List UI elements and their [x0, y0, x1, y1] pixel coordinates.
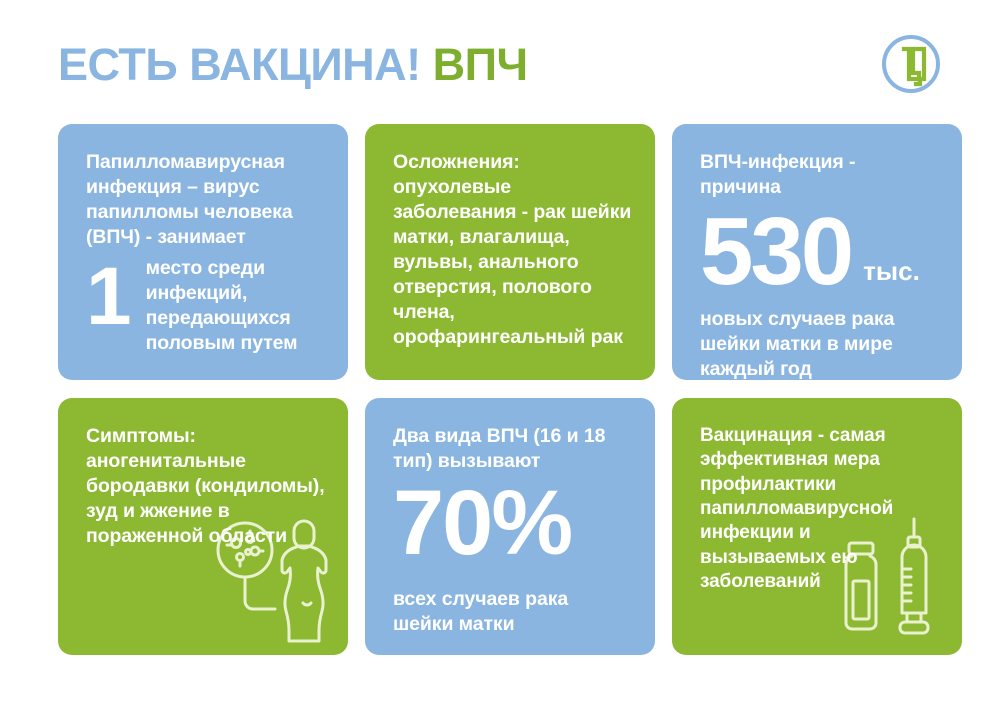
card-types-stat: 70% [393, 480, 633, 567]
title-main: ЕСТЬ ВАКЦИНА! [58, 39, 421, 90]
card-complications-body: Осложнения: опухолевые заболевания - рак… [393, 150, 633, 350]
card-vaccination: Вакцинация - самая эффективная мера проф… [672, 398, 962, 655]
card-definition-body: Папилломавирусная инфекция – вирус папил… [86, 150, 326, 356]
title-accent: ВПЧ [433, 39, 528, 90]
card-symptoms-body: Симптомы: аногенитальные бородавки (конд… [86, 424, 326, 549]
card-cases-lead: ВПЧ-инфекция - причина [700, 150, 940, 200]
page-title: ЕСТЬ ВАКЦИНА! ВПЧ [58, 42, 528, 87]
card-complications-lead: Осложнения: опухолевые заболевания - рак… [393, 150, 633, 350]
card-types-stat-value: 70% [393, 480, 571, 567]
card-symptoms: Симптомы: аногенитальные бородавки (конд… [58, 398, 348, 655]
card-cases: ВПЧ-инфекция - причина 530 тыс. новых сл… [672, 124, 962, 380]
card-types-caption: всех случаев рака шейки матки [393, 587, 633, 637]
card-definition: Папилломавирусная инфекция – вирус папил… [58, 124, 348, 380]
card-grid: Папилломавирусная инфекция – вирус папил… [58, 124, 962, 655]
card-cases-stat-value: 530 [700, 206, 851, 297]
card-cases-caption: новых случаев рака шейки матки в мире ка… [700, 307, 940, 380]
card-definition-lead: Папилломавирусная инфекция – вирус папил… [86, 150, 326, 250]
card-symptoms-lead: Симптомы: аногенитальные бородавки (конд… [86, 424, 326, 549]
card-definition-numeral-block: 1 место среди инфекций, передающихся пол… [86, 256, 326, 356]
card-cases-body: ВПЧ-инфекция - причина 530 тыс. новых сл… [700, 150, 940, 380]
poster-header: ЕСТЬ ВАКЦИНА! ВПЧ [58, 28, 962, 100]
card-complications: Осложнения: опухолевые заболевания - рак… [365, 124, 655, 380]
card-cases-stat: 530 тыс. [700, 206, 940, 297]
card-definition-numeral: 1 [86, 262, 132, 332]
card-types-lead: Два вида ВПЧ (16 и 18 тип) вызывают [393, 424, 633, 474]
organization-logo-icon [880, 33, 942, 95]
spacer [393, 577, 633, 587]
card-vaccination-lead: Вакцинация - самая эффективная мера проф… [700, 424, 940, 594]
card-types-body: Два вида ВПЧ (16 и 18 тип) вызывают 70% … [393, 424, 633, 637]
infographic-poster: ЕСТЬ ВАКЦИНА! ВПЧ Папилломавирусная инфе… [0, 0, 1000, 707]
card-types: Два вида ВПЧ (16 и 18 тип) вызывают 70% … [365, 398, 655, 655]
card-definition-numeral-text: место среди инфекций, передающихся полов… [146, 256, 326, 356]
card-cases-stat-unit: тыс. [863, 258, 920, 284]
card-vaccination-body: Вакцинация - самая эффективная мера проф… [700, 424, 940, 594]
